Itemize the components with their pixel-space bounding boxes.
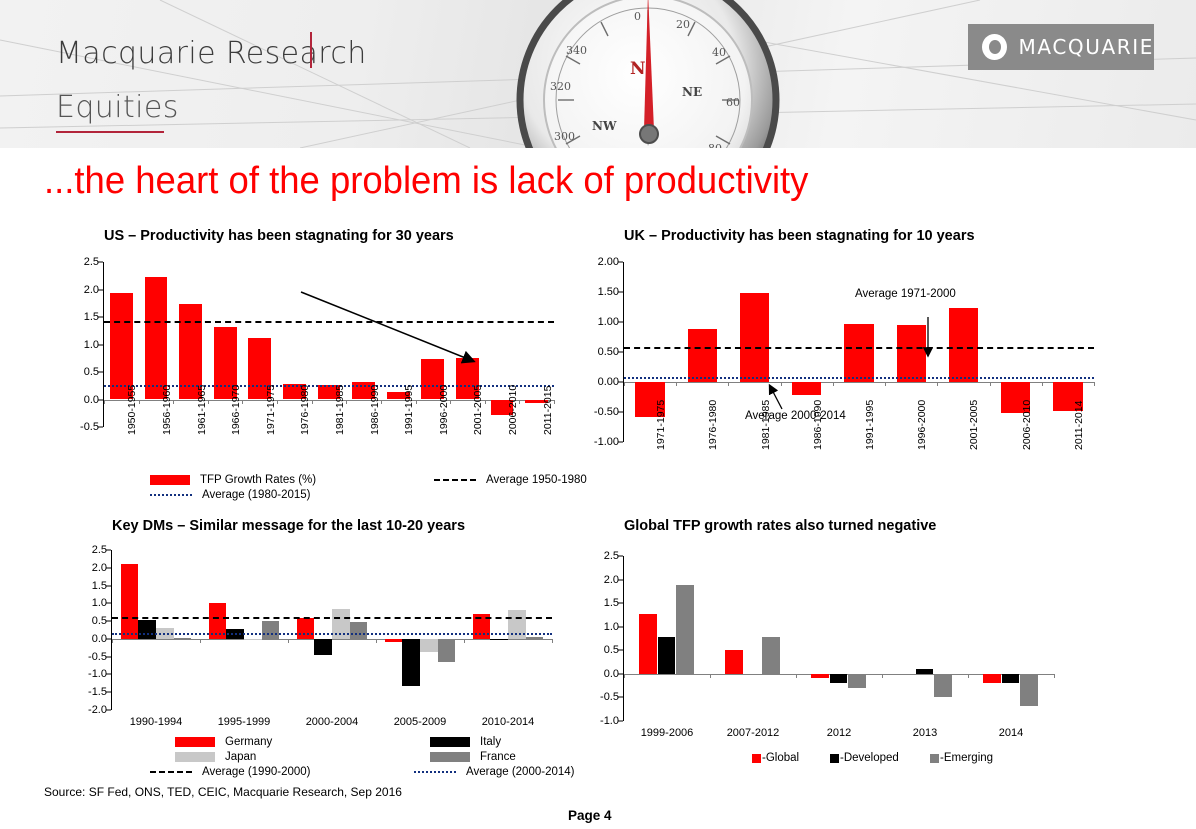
legend-label: France <box>480 751 516 763</box>
bar <box>438 639 456 662</box>
bar <box>174 638 192 639</box>
x-axis-tick <box>450 400 451 404</box>
chart-legend-row: Average 1950-1980 <box>434 474 587 486</box>
uk-average-1971-2000-label: Average 1971-2000 <box>855 288 956 300</box>
x-axis-tick <box>104 400 105 404</box>
x-axis-tick <box>554 400 555 404</box>
legend-label: -Global <box>762 752 799 764</box>
chart-legend-row: -Developed <box>830 752 899 764</box>
bar <box>792 382 821 395</box>
chart-panel-us: US – Productivity has been stagnating fo… <box>104 228 584 427</box>
chart-legend-row: Japan <box>175 751 256 763</box>
brand-divider <box>310 32 312 68</box>
y-axis-label: 2.5 <box>604 550 624 562</box>
bar <box>297 618 315 639</box>
bar <box>110 293 133 399</box>
legend-item: Average (1990-2000) <box>150 766 310 778</box>
y-axis-label: -1.5 <box>88 686 112 698</box>
x-axis-tick <box>464 639 465 643</box>
bar <box>897 325 926 382</box>
chart-area-key-dms: 2.52.01.51.00.50.0-0.5-1.0-1.5-2.01990-1… <box>112 550 552 710</box>
x-axis-tick <box>416 400 417 404</box>
y-axis-label: 1.0 <box>92 597 112 609</box>
legend-dotted-line <box>150 494 192 496</box>
x-axis-category-label: 2011-2015 <box>542 386 554 435</box>
svg-text:NE: NE <box>682 85 702 99</box>
bar <box>949 308 978 382</box>
x-axis-tick <box>624 382 625 386</box>
y-axis-label: 0.0 <box>92 633 112 645</box>
bar <box>1020 674 1038 706</box>
y-axis-label: -1.00 <box>594 436 624 448</box>
x-axis-tick <box>173 400 174 404</box>
legend-square-marker <box>930 754 939 763</box>
legend-swatch <box>430 737 470 747</box>
svg-text:60: 60 <box>726 96 740 109</box>
x-axis-category-label: 2001-2005 <box>968 400 980 450</box>
x-axis-tick <box>242 400 243 404</box>
y-axis-label: 0.00 <box>598 376 624 388</box>
x-axis-tick <box>710 674 711 678</box>
bar <box>916 669 934 674</box>
chart-area-us: 2.52.01.51.00.50.0-0.51950-19551956-1960… <box>104 262 554 427</box>
uk-average-2000-2014-label: Average 2000-2014 <box>745 410 846 422</box>
bar <box>830 674 848 683</box>
svg-text:300: 300 <box>554 130 575 143</box>
x-axis-category-label: 2011-2014 <box>1073 401 1085 450</box>
x-axis-tick <box>1042 382 1043 386</box>
x-axis-category-label: 1950-1955 <box>126 385 138 435</box>
legend-item: TFP Growth Rates (%) <box>150 474 316 486</box>
x-axis-category-label: 1999-2006 <box>624 727 710 739</box>
x-axis-category-label: 1976-1980 <box>707 400 719 450</box>
y-axis-label: 1.50 <box>598 286 624 298</box>
x-axis-tick <box>200 639 201 643</box>
x-axis-tick <box>277 400 278 404</box>
y-axis-label: 0.5 <box>604 644 624 656</box>
bar <box>762 637 780 674</box>
y-axis-label: 1.0 <box>84 339 104 351</box>
legend-label: Average 1950-1980 <box>486 474 587 486</box>
page-number: Page 4 <box>568 808 612 823</box>
svg-text:40: 40 <box>712 46 726 59</box>
x-axis-tick <box>112 639 113 643</box>
x-axis-tick <box>885 382 886 386</box>
x-axis-category-label: 1956-1960 <box>161 385 173 435</box>
y-axis-label: -0.5 <box>600 691 624 703</box>
chart-legend-row: -Emerging <box>930 752 993 764</box>
y-axis-label: 2.0 <box>92 562 112 574</box>
x-axis-tick <box>288 639 289 643</box>
x-axis-tick <box>990 382 991 386</box>
legend-item: Germany <box>175 736 272 748</box>
svg-text:N: N <box>630 59 646 79</box>
bar <box>121 564 139 639</box>
x-axis-category-label: 2006-2010 <box>507 385 519 435</box>
bar <box>314 639 332 655</box>
chart-title-uk: UK – Productivity has been stagnating fo… <box>624 228 1144 244</box>
y-axis-label: -0.5 <box>80 421 104 433</box>
svg-text:NW: NW <box>592 119 617 133</box>
x-axis-tick <box>781 382 782 386</box>
source-note: Source: SF Fed, ONS, TED, CEIC, Macquari… <box>44 785 402 799</box>
x-axis-tick <box>346 400 347 404</box>
x-axis-tick <box>139 400 140 404</box>
legend-label: Average (2000-2014) <box>466 766 574 778</box>
legend-item: France <box>430 751 516 763</box>
bar <box>676 585 694 674</box>
bar <box>740 293 769 382</box>
legend-item: Average (2000-2014) <box>414 766 574 778</box>
legend-label: -Developed <box>840 752 899 764</box>
chart-title-global: Global TFP growth rates also turned nega… <box>624 518 1144 534</box>
x-axis-category-label: 2000-2004 <box>288 716 376 728</box>
bar <box>688 329 717 382</box>
bar <box>350 622 368 639</box>
average-line-dashed <box>112 617 552 619</box>
y-axis-label: 2.5 <box>92 544 112 556</box>
macquarie-mark-icon <box>982 34 1007 60</box>
bar <box>639 614 657 674</box>
average-line-dotted <box>112 633 552 635</box>
x-axis-tick <box>312 400 313 404</box>
x-axis-tick <box>937 382 938 386</box>
bar <box>1002 674 1020 683</box>
brand-subtitle: Equities <box>56 90 179 125</box>
x-axis-tick <box>728 382 729 386</box>
y-axis-label: -2.0 <box>88 704 112 716</box>
x-axis-category-label: 1996-2000 <box>438 385 450 435</box>
x-axis-category-label: 2013 <box>882 727 968 739</box>
chart-legend-row: France <box>430 751 516 763</box>
y-axis-label: 0.0 <box>604 668 624 680</box>
svg-text:20: 20 <box>676 18 690 31</box>
x-axis-category-label: 1986-1990 <box>369 385 381 435</box>
chart-legend-row: -Global <box>752 752 799 764</box>
y-axis-label: 2.0 <box>84 284 104 296</box>
x-axis-category-label: 1981-1985 <box>760 400 772 450</box>
legend-swatch <box>175 737 215 747</box>
average-line-dotted <box>624 377 1094 379</box>
x-axis-tick <box>381 400 382 404</box>
y-axis-label: -1.0 <box>88 668 112 680</box>
compass-photo: 0 20 40 60 80 340 320 300 N NE NW E <box>480 0 820 148</box>
legend-dashed-line <box>150 771 192 773</box>
x-axis-category-label: 1995-1999 <box>200 716 288 728</box>
svg-text:320: 320 <box>550 80 571 93</box>
legend-square-marker <box>752 754 761 763</box>
chart-legend-row: Average (1980-2015) <box>150 489 310 501</box>
x-axis-tick <box>676 382 677 386</box>
brand-subtitle-underline <box>56 131 164 133</box>
x-axis-tick <box>552 639 553 643</box>
x-axis-category-label: 2005-2009 <box>376 716 464 728</box>
y-axis-label: 2.00 <box>598 256 624 268</box>
bar <box>138 620 156 639</box>
y-axis-label: 2.5 <box>84 256 104 268</box>
bar <box>811 674 829 678</box>
chart-panel-key-dms: Key DMs – Similar message for the last 1… <box>112 518 592 710</box>
slide-title: ...the heart of the problem is lack of p… <box>44 160 808 203</box>
chart-legend-row: TFP Growth Rates (%) <box>150 474 316 486</box>
macquarie-logo: MACQUARIE <box>968 24 1154 70</box>
y-axis-label: 0.50 <box>598 346 624 358</box>
bar <box>385 639 403 643</box>
legend-label: Germany <box>225 736 272 748</box>
bar <box>725 650 743 674</box>
x-axis-tick <box>882 674 883 678</box>
y-axis-label: -1.0 <box>600 715 624 727</box>
legend-label: Italy <box>480 736 501 748</box>
x-axis-tick <box>796 674 797 678</box>
y-axis-label: 1.5 <box>604 597 624 609</box>
bar <box>490 639 508 640</box>
bar <box>526 637 544 639</box>
x-axis-tick <box>833 382 834 386</box>
y-axis-label: -0.50 <box>594 406 624 418</box>
legend-label: -Emerging <box>940 752 993 764</box>
x-axis-category-label: 2012 <box>796 727 882 739</box>
x-axis-category-label: 1986-1990 <box>812 400 824 450</box>
legend-label: Average (1990-2000) <box>202 766 310 778</box>
y-axis-label: 1.00 <box>598 316 624 328</box>
chart-area-global: 2.52.01.51.00.50.0-0.5-1.01999-20062007-… <box>624 556 1054 721</box>
x-axis-category-label: 2007-2012 <box>710 727 796 739</box>
bar <box>145 277 168 399</box>
x-axis-category-label: 1991-1995 <box>864 400 876 450</box>
legend-item: -Developed <box>830 752 899 764</box>
bar <box>934 674 952 697</box>
chart-panel-uk: UK – Productivity has been stagnating fo… <box>624 228 1144 442</box>
x-axis-category-label: 1961-1965 <box>196 385 208 435</box>
x-axis-category-label: 2001-2005 <box>472 385 484 435</box>
x-axis-category-label: 2010-2014 <box>464 716 552 728</box>
y-axis-label: 2.0 <box>604 574 624 586</box>
x-axis-category-label: 1976-1980 <box>299 385 311 435</box>
brand-title: Macquarie Research <box>56 36 367 71</box>
chart-panel-global: Global TFP growth rates also turned nega… <box>624 518 1144 721</box>
x-axis-category-label: 1971-1975 <box>265 385 277 435</box>
legend-item: -Emerging <box>930 752 993 764</box>
legend-square-marker <box>830 754 839 763</box>
bar <box>844 324 873 382</box>
x-axis-tick <box>519 400 520 404</box>
bar <box>658 637 676 674</box>
legend-item: Average (1980-2015) <box>150 489 310 501</box>
chart-legend-row: Italy <box>430 736 501 748</box>
average-line-dashed <box>104 321 554 323</box>
legend-item: Average 1950-1980 <box>434 474 587 486</box>
average-line-dashed <box>624 347 1094 349</box>
y-axis-label: 1.5 <box>84 311 104 323</box>
svg-text:340: 340 <box>566 44 587 57</box>
bar <box>402 639 420 686</box>
legend-label: Japan <box>225 751 256 763</box>
legend-item: Italy <box>430 736 501 748</box>
legend-label: Average (1980-2015) <box>202 489 310 501</box>
bar <box>848 674 866 688</box>
x-axis-tick <box>624 674 625 678</box>
x-axis-category-label: 2014 <box>968 727 1054 739</box>
y-axis-label: -0.5 <box>88 651 112 663</box>
macquarie-logo-text: MACQUARIE <box>1019 35 1154 59</box>
y-axis-label: 1.5 <box>92 580 112 592</box>
x-axis-tick <box>968 674 969 678</box>
legend-swatch <box>430 752 470 762</box>
chart-title-us: US – Productivity has been stagnating fo… <box>104 228 584 244</box>
legend-label: TFP Growth Rates (%) <box>200 474 316 486</box>
bar <box>420 639 438 653</box>
x-axis-category-label: 1981-1985 <box>334 385 346 435</box>
x-axis-category-label: 1991-1995 <box>403 385 415 435</box>
bar <box>244 639 262 640</box>
slide-header: 0 20 40 60 80 340 320 300 N NE NW E Macq… <box>0 0 1196 148</box>
x-axis-tick <box>376 639 377 643</box>
bar <box>262 621 280 639</box>
x-axis-tick <box>485 400 486 404</box>
y-axis-label: 1.0 <box>604 621 624 633</box>
legend-item: -Global <box>752 752 799 764</box>
legend-dotted-line <box>414 771 456 773</box>
y-axis-label: 0.5 <box>92 615 112 627</box>
x-axis-category-label: 1971-1975 <box>655 400 667 450</box>
x-axis-tick <box>1094 382 1095 386</box>
y-axis-label: 0.5 <box>84 366 104 378</box>
x-axis-tick <box>1054 674 1055 678</box>
chart-title-key-dms: Key DMs – Similar message for the last 1… <box>112 518 592 534</box>
legend-swatch <box>150 475 190 485</box>
chart-legend-row: Average (2000-2014) <box>414 766 574 778</box>
svg-text:E: E <box>694 146 711 148</box>
legend-dashed-line <box>434 479 476 481</box>
x-axis-category-label: 1996-2000 <box>916 400 928 450</box>
x-axis-category-label: 1966-1970 <box>230 385 242 435</box>
x-axis-category-label: 1990-1994 <box>112 716 200 728</box>
bar <box>983 674 1001 683</box>
x-axis-category-label: 2006-2010 <box>1021 400 1033 450</box>
legend-swatch <box>175 752 215 762</box>
svg-text:0: 0 <box>634 10 641 23</box>
y-axis-label: 0.0 <box>84 394 104 406</box>
chart-legend-row: Germany <box>175 736 272 748</box>
chart-legend-row: Average (1990-2000) <box>150 766 310 778</box>
legend-item: Japan <box>175 751 256 763</box>
